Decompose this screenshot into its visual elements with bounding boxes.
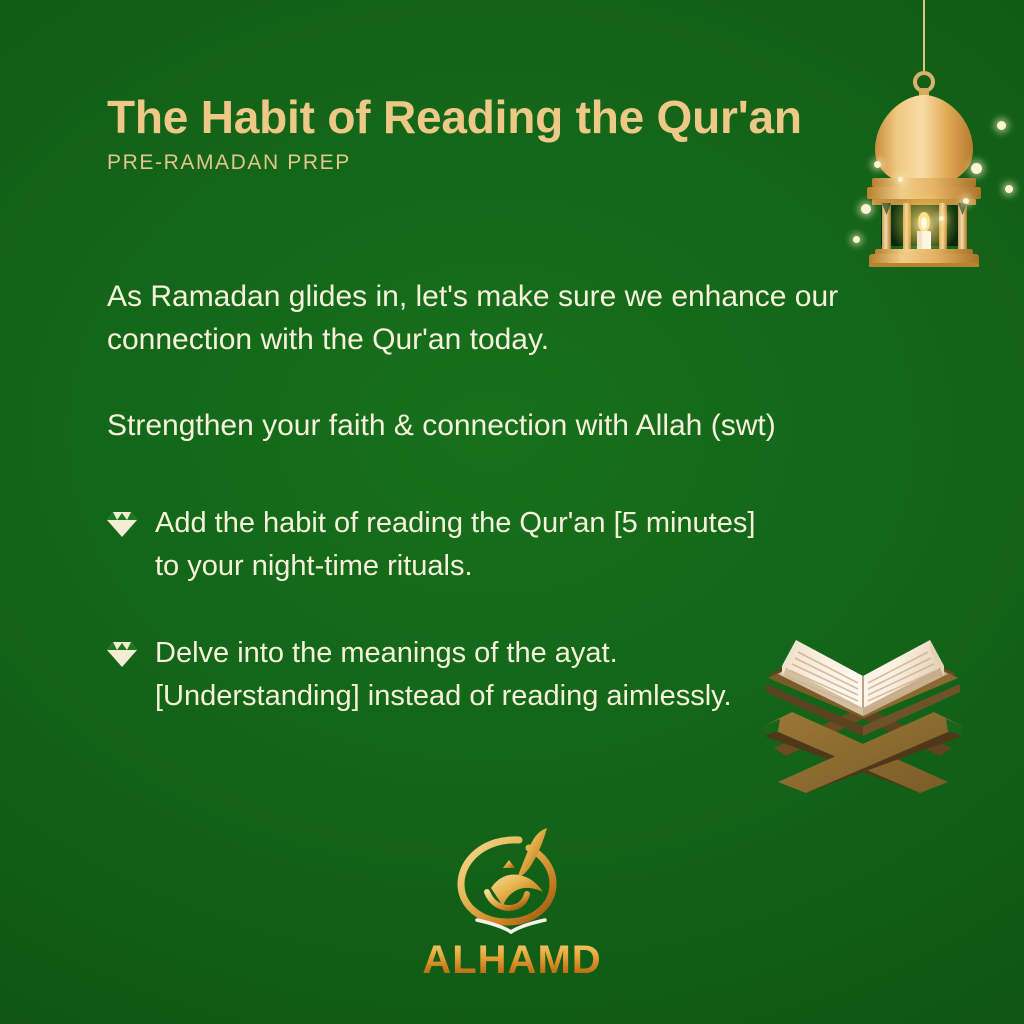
sparkle-dot: [853, 236, 860, 243]
poster-header: The Habit of Reading the Qur'an PRE-RAMA…: [107, 94, 867, 173]
sparkle-dot: [874, 161, 881, 168]
bullet-list: Add the habit of reading the Qur'an [5 m…: [107, 502, 787, 718]
sparkle-dot: [939, 216, 944, 221]
list-item-label: Add the habit of reading the Qur'an [5 m…: [155, 502, 787, 588]
sparkle-dot: [1005, 185, 1013, 193]
page-subtitle: PRE-RAMADAN PREP: [107, 152, 867, 173]
page-title: The Habit of Reading the Qur'an: [107, 94, 867, 142]
alhamd-calligraphy-icon: [0, 828, 1024, 943]
ramadan-lantern-icon: [845, 0, 1024, 270]
sparkle-dot: [898, 177, 903, 182]
sparkle-dot: [963, 198, 969, 204]
list-item-label: Delve into the meanings of the ayat. [Un…: [155, 632, 787, 718]
body-copy: As Ramadan glides in, let's make sure we…: [107, 276, 877, 448]
lead-paragraph: As Ramadan glides in, let's make sure we…: [107, 276, 847, 361]
sparkle-dot: [971, 163, 982, 174]
quran-on-rehal-icon: [738, 630, 988, 795]
strengthen-line: Strengthen your faith & connection with …: [107, 405, 877, 448]
sparkle-dot: [997, 121, 1006, 130]
brand-wordmark: ALHAMD: [0, 939, 1024, 981]
poster-canvas: The Habit of Reading the Qur'an PRE-RAMA…: [0, 0, 1024, 1024]
diamond-gem-icon: [107, 511, 137, 538]
diamond-gem-icon: [107, 641, 137, 668]
brand-logo: ALHAMD: [0, 828, 1024, 981]
list-item: Delve into the meanings of the ayat. [Un…: [107, 632, 787, 718]
list-item: Add the habit of reading the Qur'an [5 m…: [107, 502, 787, 588]
sparkle-dot: [861, 204, 871, 214]
